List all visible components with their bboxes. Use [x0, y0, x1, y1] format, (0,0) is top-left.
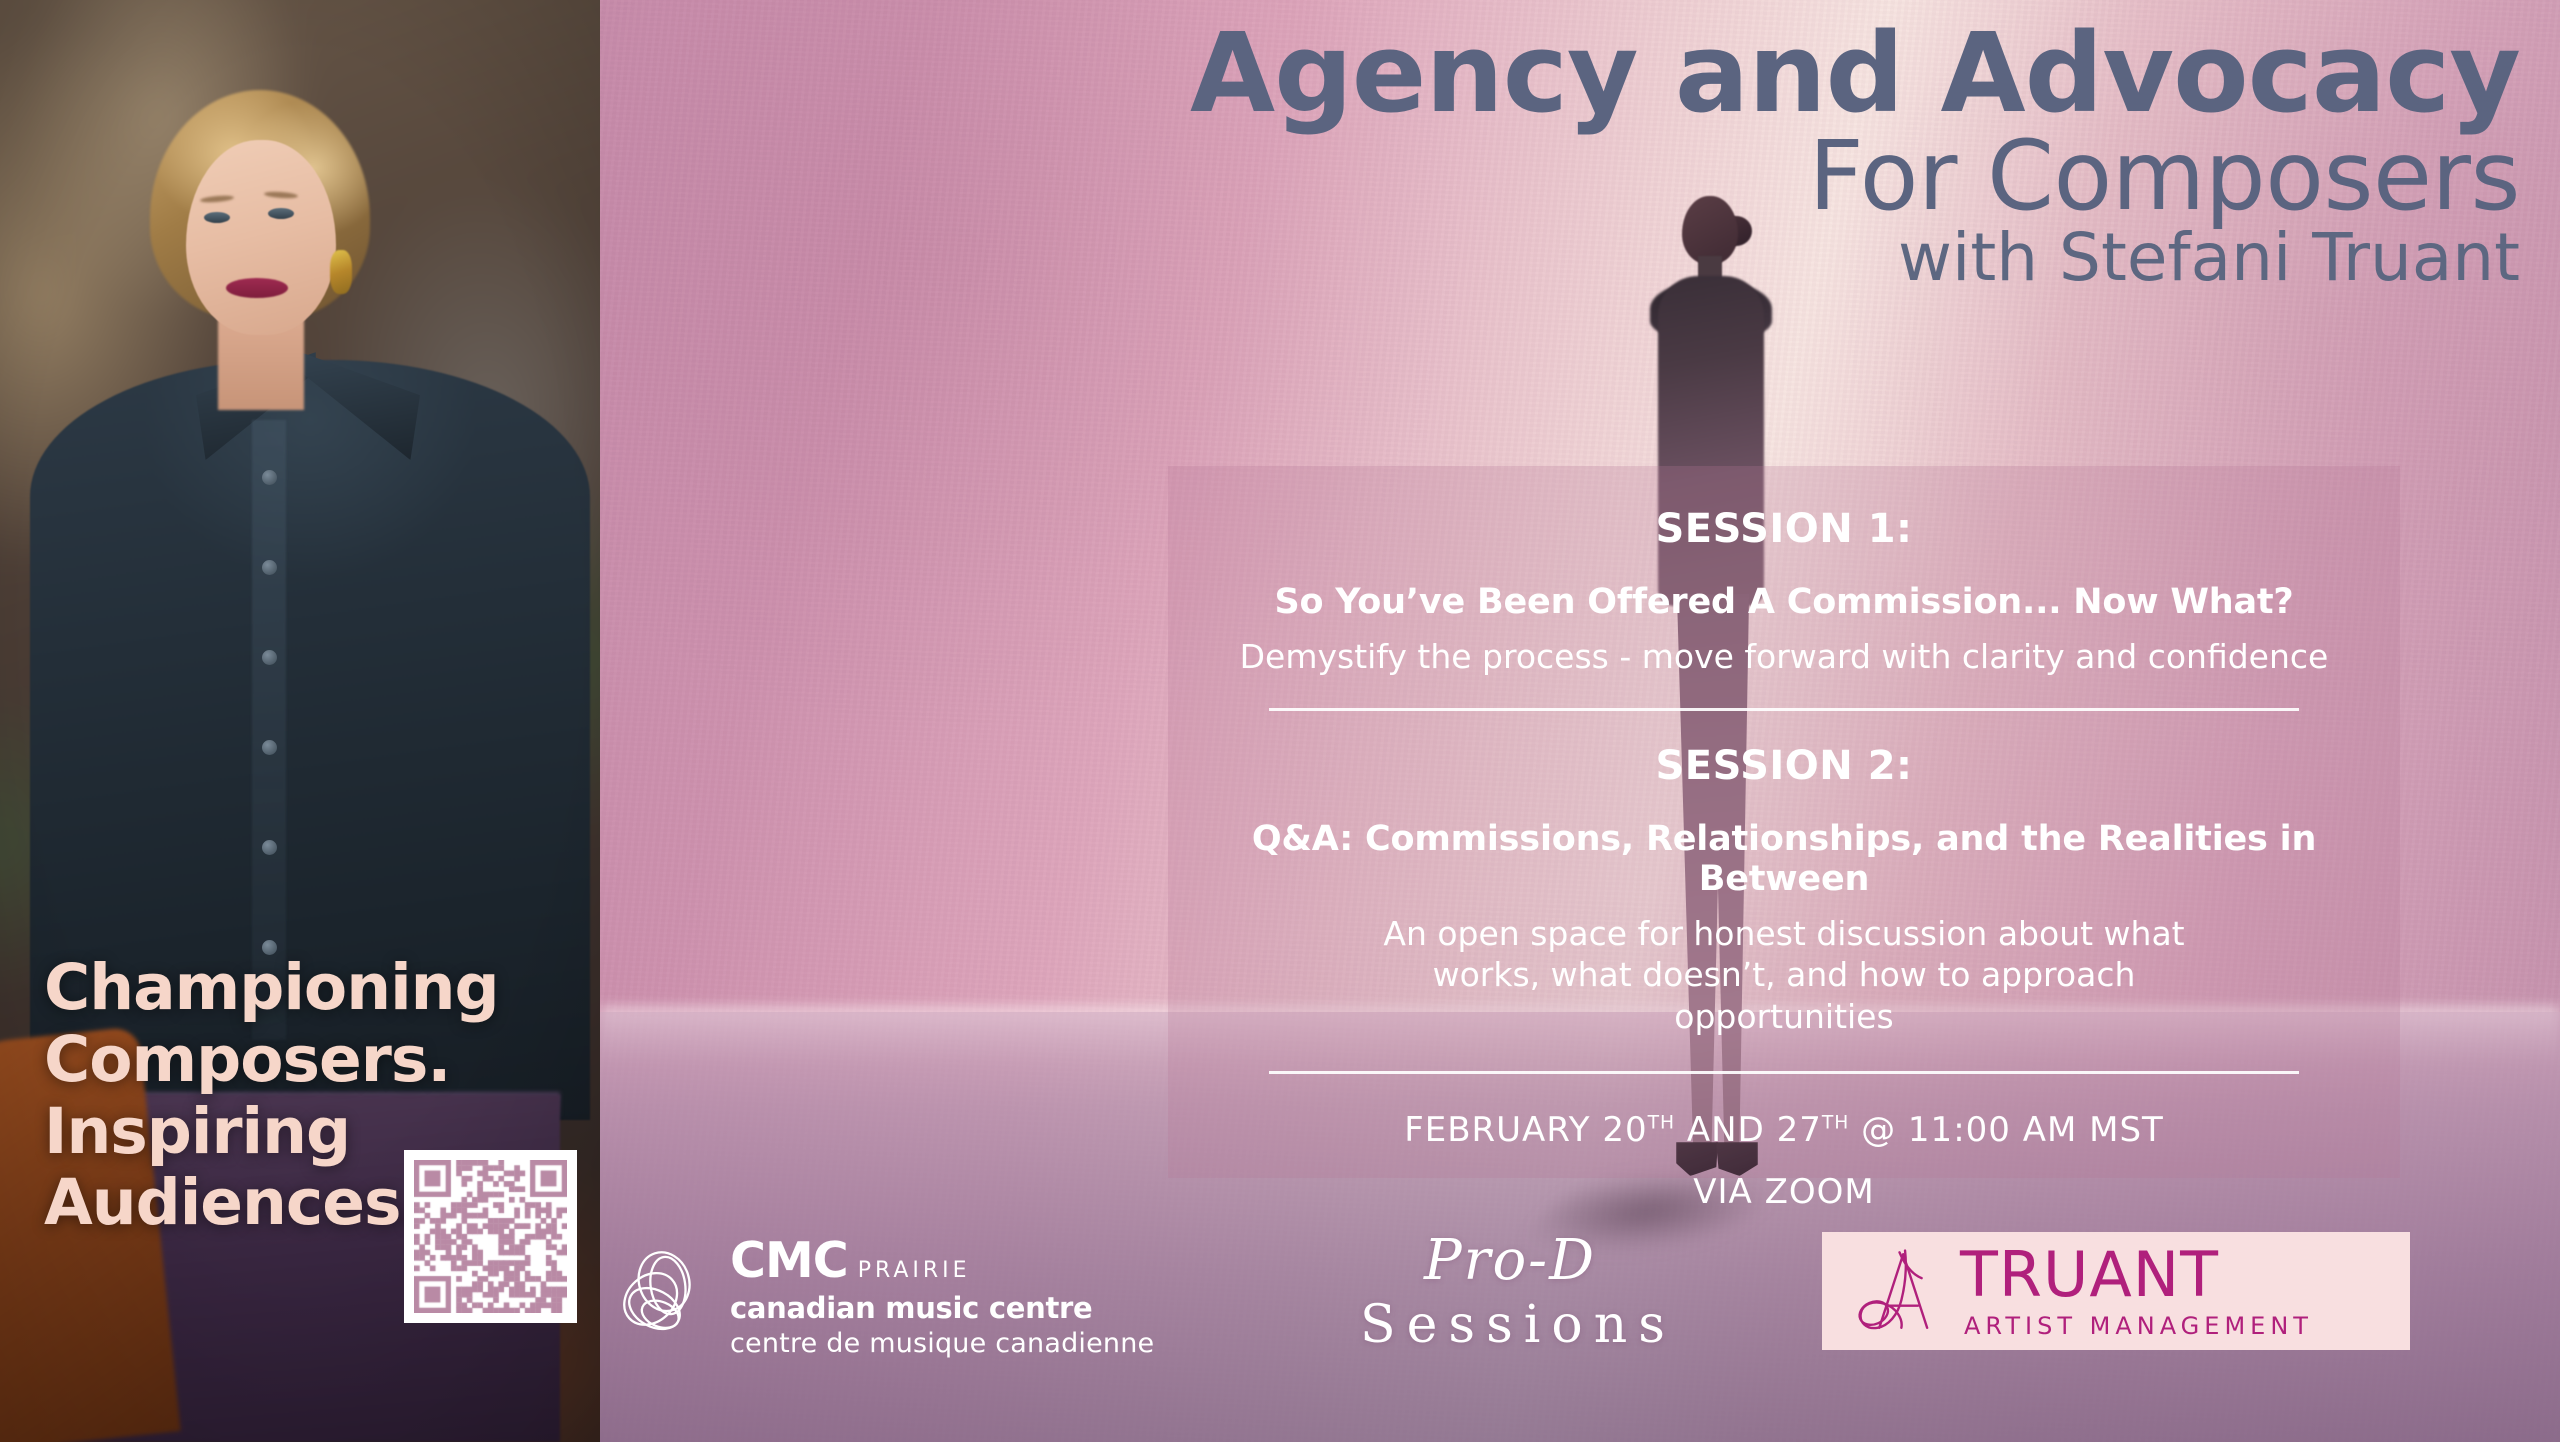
portrait-photo-panel: Championing Composers. Inspiring Audienc… — [0, 0, 600, 1442]
poster-title: Agency and Advocacy — [600, 18, 2520, 128]
session-2-label: SESSION 2: — [1212, 743, 2356, 789]
date-middle: AND 27 — [1675, 1110, 1822, 1150]
session-2-description: An open space for honest discussion abou… — [1334, 913, 2234, 1038]
truant-monogram-icon — [1848, 1243, 1940, 1339]
pro-d-sessions-logo[interactable]: Pro-D Sessions — [1360, 1228, 1660, 1355]
cmc-abbreviation: CMC — [730, 1236, 848, 1285]
cmc-name-french: centre de musique canadienne — [730, 1330, 1154, 1357]
poster-presenter: with Stefani Truant — [600, 223, 2520, 292]
cmc-swirl-logo-icon — [618, 1249, 714, 1345]
truant-name: TRUANT — [1960, 1244, 2313, 1306]
date-suffix: @ 11:00 AM MST — [1849, 1110, 2164, 1150]
session-1-label: SESSION 1: — [1212, 506, 2356, 552]
event-poster: Championing Composers. Inspiring Audienc… — [0, 0, 2560, 1442]
cmc-name-english: canadian music centre — [730, 1294, 1154, 1323]
content-panel: Agency and Advocacy For Composers with S… — [600, 0, 2560, 1442]
cmc-logo[interactable]: CMC PRAIRIE canadian music centre centre… — [618, 1236, 1154, 1357]
registration-qr-code[interactable] — [404, 1150, 577, 1323]
session-1-description: Demystify the process - move forward wit… — [1212, 636, 2356, 678]
logo-row: CMC PRAIRIE canadian music centre centre… — [600, 1228, 2560, 1388]
session-1-title: So You’ve Been Offered A Commission... N… — [1212, 582, 2356, 622]
pro-d-line1: Pro-D — [1360, 1228, 1660, 1293]
event-platform: VIA ZOOM — [1212, 1172, 2356, 1212]
poster-subtitle: For Composers — [600, 126, 2520, 227]
session-details-box: SESSION 1: So You’ve Been Offered A Comm… — [1168, 466, 2400, 1178]
truant-tagline: ARTIST MANAGEMENT — [1964, 1314, 2313, 1338]
pro-d-line2: Sessions — [1360, 1295, 1660, 1355]
session-2-title: Q&A: Commissions, Relationships, and the… — [1212, 819, 2356, 899]
date-ordinal-1: TH — [1648, 1113, 1675, 1134]
cmc-logo-text: CMC PRAIRIE canadian music centre centre… — [730, 1236, 1154, 1357]
date-prefix: FEBRUARY 20 — [1404, 1110, 1647, 1150]
truant-logo-text: TRUANT ARTIST MANAGEMENT — [1960, 1244, 2313, 1338]
qr-canvas — [414, 1160, 567, 1313]
truant-artist-management-logo[interactable]: TRUANT ARTIST MANAGEMENT — [1822, 1232, 2410, 1350]
cmc-region: PRAIRIE — [858, 1260, 971, 1282]
section-divider — [1269, 708, 2299, 711]
date-ordinal-2: TH — [1822, 1113, 1849, 1134]
section-divider — [1269, 1071, 2299, 1074]
poster-headings: Agency and Advocacy For Composers with S… — [600, 0, 2560, 292]
event-datetime: FEBRUARY 20TH AND 27TH @ 11:00 AM MST — [1212, 1110, 2356, 1150]
